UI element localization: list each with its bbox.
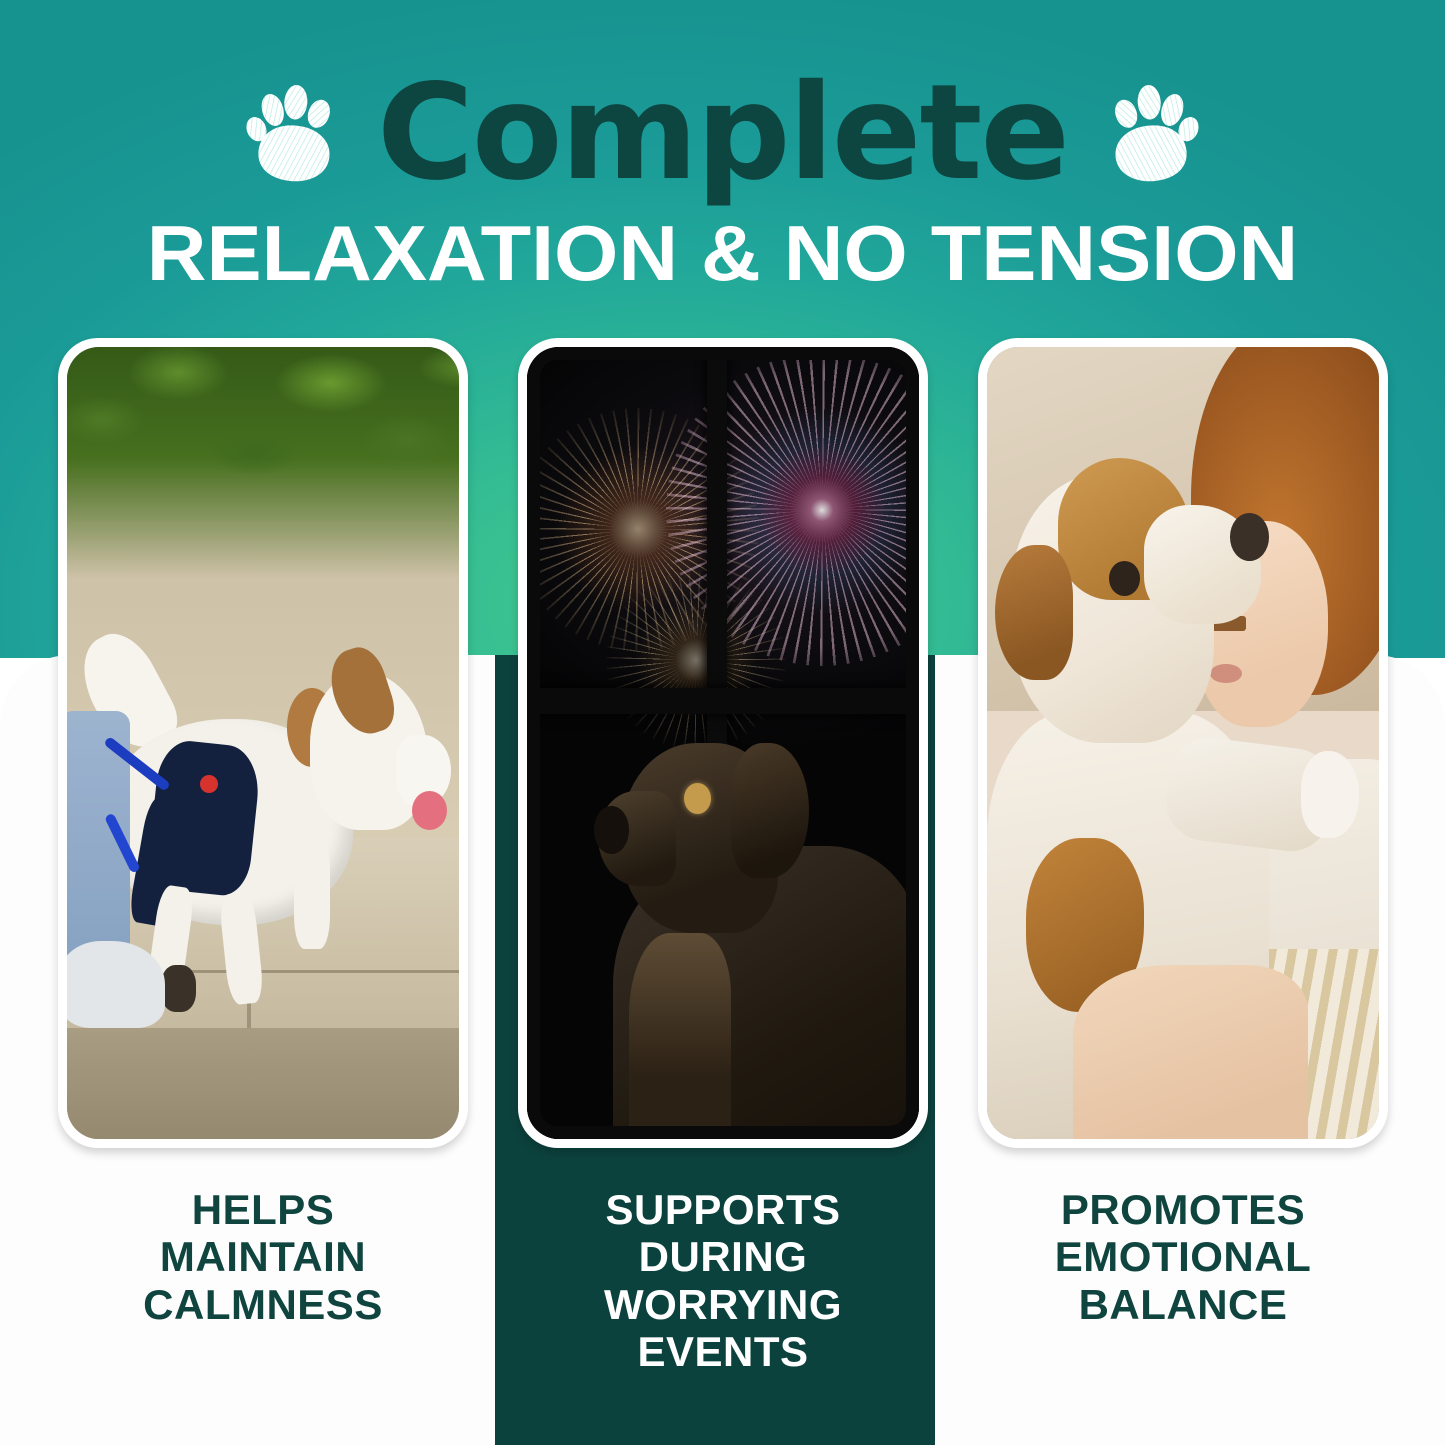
image-dog-on-leash: [67, 347, 459, 1139]
caption-helps-maintain-calmness: HELPS MAINTAIN CALMNESS: [58, 1186, 468, 1328]
image-dog-watching-fireworks: [527, 347, 919, 1139]
caption-supports-during-worrying-events: SUPPORTS DURING WORRYING EVENTS: [518, 1186, 928, 1376]
caption-promotes-emotional-balance: PROMOTES EMOTIONAL BALANCE: [978, 1186, 1388, 1328]
benefit-card-worrying-events: [518, 338, 928, 1148]
image-dog-cuddling-child: [987, 347, 1379, 1139]
infographic-canvas: Complete RELAXATION & NO TENSION: [0, 0, 1445, 1445]
benefit-card-calmness: [58, 338, 468, 1148]
benefit-card-emotional-balance: [978, 338, 1388, 1148]
